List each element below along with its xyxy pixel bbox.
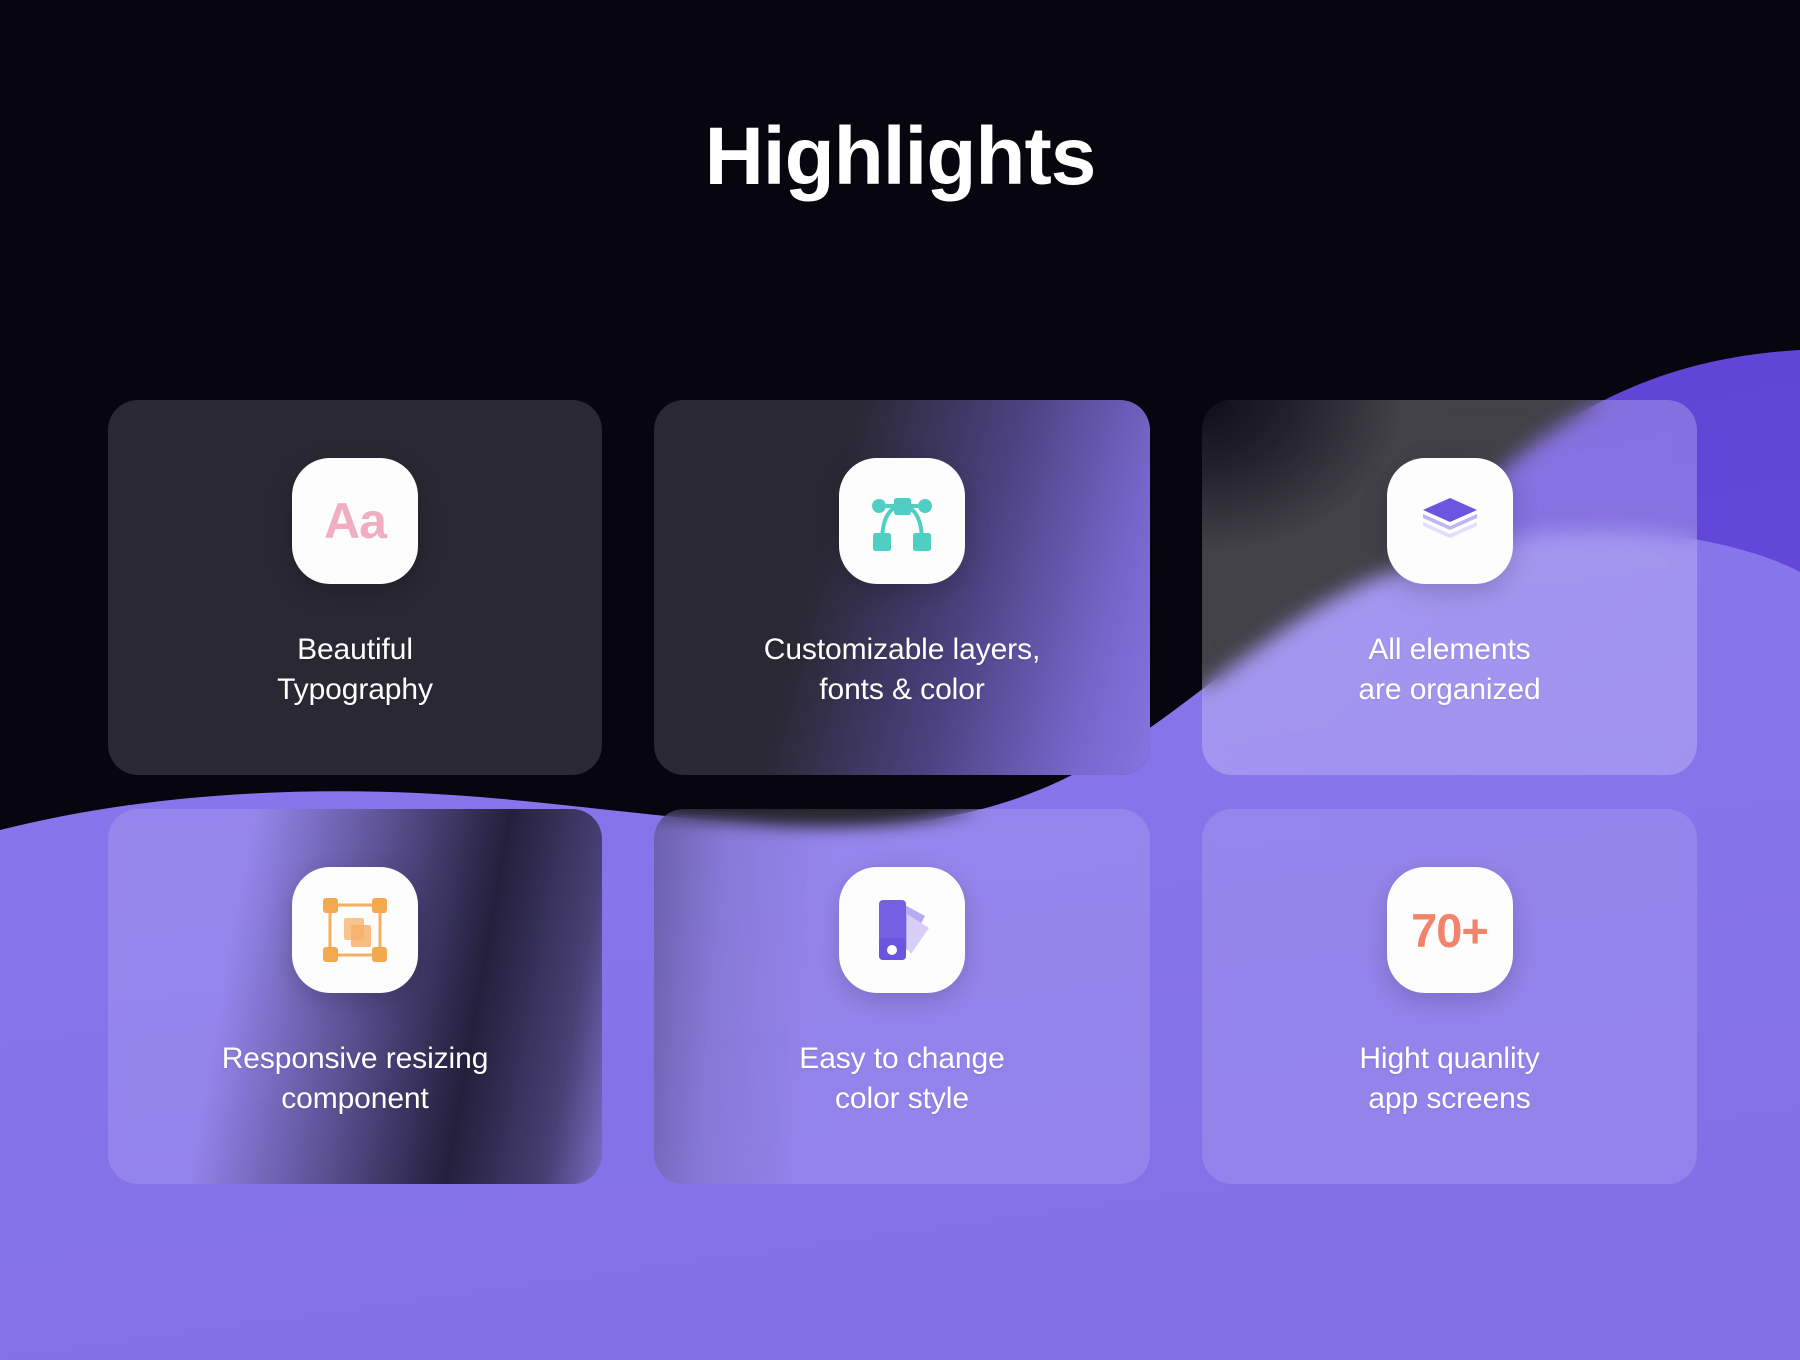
highlight-card-customizable-layers[interactable]: Customizable layers, fonts & color <box>654 400 1150 775</box>
card-label: Easy to change color style <box>799 1039 1004 1119</box>
color-swatch-icon <box>839 867 965 993</box>
highlight-card-all-elements-organized[interactable]: All elements are organized <box>1202 400 1697 775</box>
layers-stack-icon <box>1387 458 1513 584</box>
layers-stack-icon-glyph <box>1413 488 1487 554</box>
highlights-slide: Highlights Aa Beautiful Typography <box>0 0 1800 1360</box>
highlight-card-responsive-resizing[interactable]: Responsive resizing component <box>108 809 602 1184</box>
card-label: All elements are organized <box>1358 630 1540 710</box>
card-label: Responsive resizing component <box>222 1039 489 1119</box>
aa-text-icon: Aa <box>292 458 418 584</box>
color-swatch-icon-glyph <box>867 894 937 966</box>
resize-frame-icon <box>292 867 418 993</box>
count-badge-icon: 70+ <box>1387 867 1513 993</box>
card-label: Hight quanlity app screens <box>1359 1039 1539 1119</box>
highlight-card-easy-color-style[interactable]: Easy to change color style <box>654 809 1150 1184</box>
page-title: Highlights <box>0 116 1800 198</box>
card-label: Customizable layers, fonts & color <box>764 630 1040 710</box>
aa-text-icon-label: Aa <box>324 496 386 546</box>
highlight-card-high-quality-screens[interactable]: 70+ Hight quanlity app screens <box>1202 809 1697 1184</box>
resize-frame-icon-glyph <box>320 895 390 965</box>
count-badge-icon-label: 70+ <box>1411 907 1488 954</box>
vector-path-icon-glyph <box>866 490 938 552</box>
card-label: Beautiful Typography <box>277 630 433 710</box>
vector-path-icon <box>839 458 965 584</box>
highlights-grid: Aa Beautiful Typography <box>108 400 1698 1184</box>
highlight-card-beautiful-typography[interactable]: Aa Beautiful Typography <box>108 400 602 775</box>
